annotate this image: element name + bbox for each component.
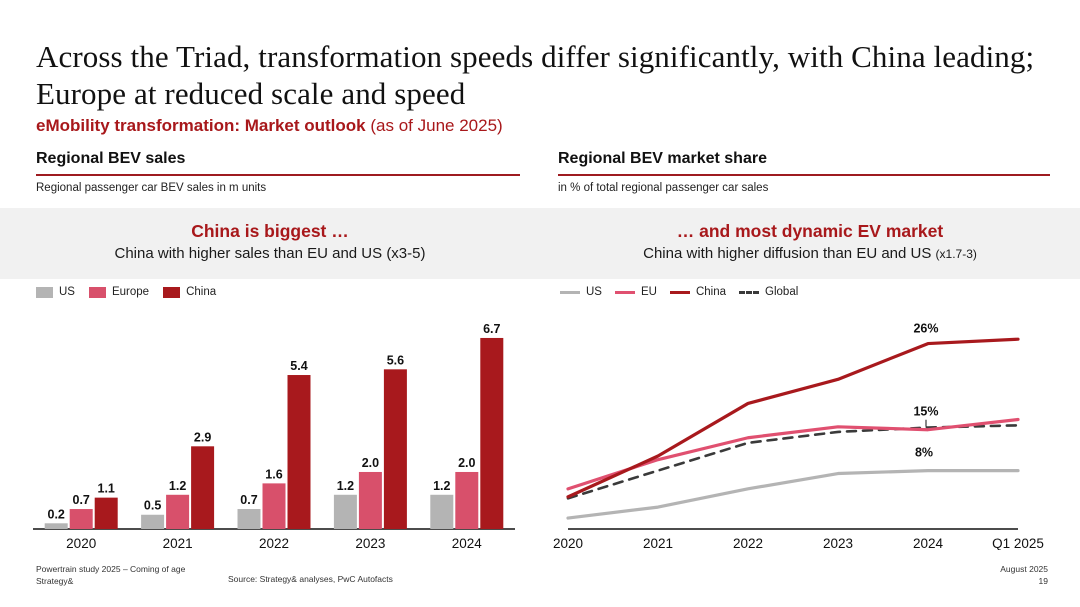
- bar-europe-2024: [455, 472, 478, 529]
- legend-swatch-europe: [89, 287, 106, 298]
- legend-line-eu: [615, 291, 635, 294]
- bar-us-2020: [45, 523, 68, 529]
- line-chart: 26%15%8%20202021202220232024Q1 2025: [548, 300, 1048, 550]
- message-right-headline: … and most dynamic EV market: [540, 221, 1080, 242]
- legend-item-europe[interactable]: Europe: [89, 286, 149, 298]
- legend-label-line-china: China: [696, 286, 726, 298]
- legend-label-line-us: US: [586, 286, 602, 298]
- footer-study: Powertrain study 2025 – Coming of age: [36, 563, 185, 575]
- bar-value-label: 0.5: [144, 499, 161, 513]
- line-series-global: [568, 425, 1018, 498]
- page-subtitle: eMobility transformation: Market outlook…: [36, 116, 503, 136]
- line-x-tick-2024: 2024: [913, 536, 944, 550]
- footer-date: August 2025: [1000, 563, 1048, 575]
- bar-value-label: 2.0: [458, 456, 475, 470]
- bar-value-label: 1.2: [433, 479, 450, 493]
- footer-right: August 2025 19: [1000, 563, 1048, 588]
- bar-chart: 0.20.71.120200.51.22.920210.71.65.420221…: [28, 300, 520, 550]
- bar-china-2023: [384, 369, 407, 529]
- subtitle-main: eMobility transformation: Market outlook: [36, 116, 366, 135]
- bar-china-2022: [288, 375, 311, 529]
- legend-item-us[interactable]: US: [36, 286, 75, 298]
- bar-china-2021: [191, 446, 214, 529]
- bar-x-tick-2022: 2022: [259, 536, 289, 550]
- message-right-sub-small: (x1.7-3): [936, 247, 977, 261]
- legend-item-china[interactable]: China: [163, 286, 216, 298]
- legend-line-us: [560, 291, 580, 294]
- legend-label-line-global: Global: [765, 286, 798, 298]
- legend-swatch-us: [36, 287, 53, 298]
- message-right-sub: China with higher diffusion than EU and …: [540, 245, 1080, 263]
- bar-value-label: 1.6: [265, 467, 282, 481]
- bar-x-tick-2024: 2024: [452, 536, 483, 550]
- line-series-china: [568, 339, 1018, 497]
- bar-us-2023: [334, 495, 357, 529]
- subtitle-asof: (as of June 2025): [370, 116, 502, 135]
- footer-brand: Strategy&: [36, 575, 185, 587]
- panel-left-rule: [36, 174, 520, 176]
- footer-page: 19: [1000, 575, 1048, 587]
- legend-label-us: US: [59, 286, 75, 298]
- line-x-tick-Q1-2025: Q1 2025: [992, 536, 1044, 550]
- footer-source: Source: Strategy& analyses, PwC Autofact…: [228, 574, 393, 584]
- panel-header-left: Regional BEV sales Regional passenger ca…: [36, 150, 520, 194]
- bar-value-label: 5.4: [290, 359, 307, 373]
- bar-europe-2021: [166, 495, 189, 529]
- panel-header-right: Regional BEV market share in % of total …: [558, 150, 1050, 194]
- line-annotation-china: 26%: [913, 322, 938, 336]
- bar-value-label: 2.0: [362, 456, 379, 470]
- message-right-sub-main: China with higher diffusion than EU and …: [643, 245, 931, 262]
- footer: Powertrain study 2025 – Coming of age St…: [0, 560, 1080, 607]
- bar-value-label: 2.9: [194, 430, 211, 444]
- line-chart-legend: US EU China Global: [560, 286, 798, 298]
- message-left: China is biggest … China with higher sal…: [0, 208, 540, 279]
- legend-item-line-eu[interactable]: EU: [615, 286, 657, 298]
- slide: Across the Triad, transformation speeds …: [0, 0, 1080, 607]
- bar-europe-2022: [263, 483, 286, 529]
- bar-value-label: 0.7: [240, 493, 257, 507]
- message-right: … and most dynamic EV market China with …: [540, 208, 1080, 279]
- line-annotation-eu: 15%: [913, 405, 938, 419]
- bar-value-label: 6.7: [483, 322, 500, 336]
- bar-us-2021: [141, 515, 164, 529]
- line-x-tick-2023: 2023: [823, 536, 853, 550]
- legend-swatch-china: [163, 287, 180, 298]
- bar-us-2024: [430, 495, 453, 529]
- line-annotation-us: 8%: [915, 446, 933, 460]
- line-chart-svg: 26%15%8%20202021202220232024Q1 2025: [548, 300, 1048, 550]
- line-x-tick-2022: 2022: [733, 536, 763, 550]
- bar-value-label: 0.7: [73, 493, 90, 507]
- legend-item-line-us[interactable]: US: [560, 286, 602, 298]
- bar-china-2020: [95, 498, 118, 529]
- panel-right-subtitle: in % of total regional passenger car sal…: [558, 182, 1050, 194]
- message-left-headline: China is biggest …: [0, 221, 540, 242]
- bar-chart-legend: US Europe China: [36, 286, 216, 298]
- bar-europe-2023: [359, 472, 382, 529]
- legend-label-china: China: [186, 286, 216, 298]
- bar-x-tick-2023: 2023: [355, 536, 385, 550]
- panel-left-subtitle: Regional passenger car BEV sales in m un…: [36, 182, 520, 194]
- legend-item-line-china[interactable]: China: [670, 286, 726, 298]
- bar-us-2022: [238, 509, 261, 529]
- legend-item-line-global[interactable]: Global: [739, 286, 798, 298]
- bar-value-label: 1.1: [98, 482, 115, 496]
- bar-x-tick-2020: 2020: [66, 536, 96, 550]
- message-band: China is biggest … China with higher sal…: [0, 208, 1080, 279]
- bar-europe-2020: [70, 509, 93, 529]
- message-left-sub: China with higher sales than EU and US (…: [0, 245, 540, 263]
- bar-value-label: 5.6: [387, 353, 404, 367]
- footer-left: Powertrain study 2025 – Coming of age St…: [36, 563, 185, 588]
- bar-china-2024: [480, 338, 503, 529]
- line-x-tick-2021: 2021: [643, 536, 673, 550]
- bar-x-tick-2021: 2021: [163, 536, 193, 550]
- panel-right-title: Regional BEV market share: [558, 150, 1050, 168]
- panel-left-title: Regional BEV sales: [36, 150, 520, 168]
- legend-label-europe: Europe: [112, 286, 149, 298]
- page-title: Across the Triad, transformation speeds …: [36, 38, 1046, 112]
- panel-right-rule: [558, 174, 1050, 176]
- bar-value-label: 1.2: [337, 479, 354, 493]
- legend-line-china: [670, 291, 690, 294]
- bar-value-label: 1.2: [169, 479, 186, 493]
- bar-chart-svg: 0.20.71.120200.51.22.920210.71.65.420221…: [28, 300, 520, 550]
- line-x-tick-2020: 2020: [553, 536, 583, 550]
- bar-value-label: 0.2: [48, 507, 65, 521]
- legend-line-global: [739, 291, 759, 294]
- legend-label-line-eu: EU: [641, 286, 657, 298]
